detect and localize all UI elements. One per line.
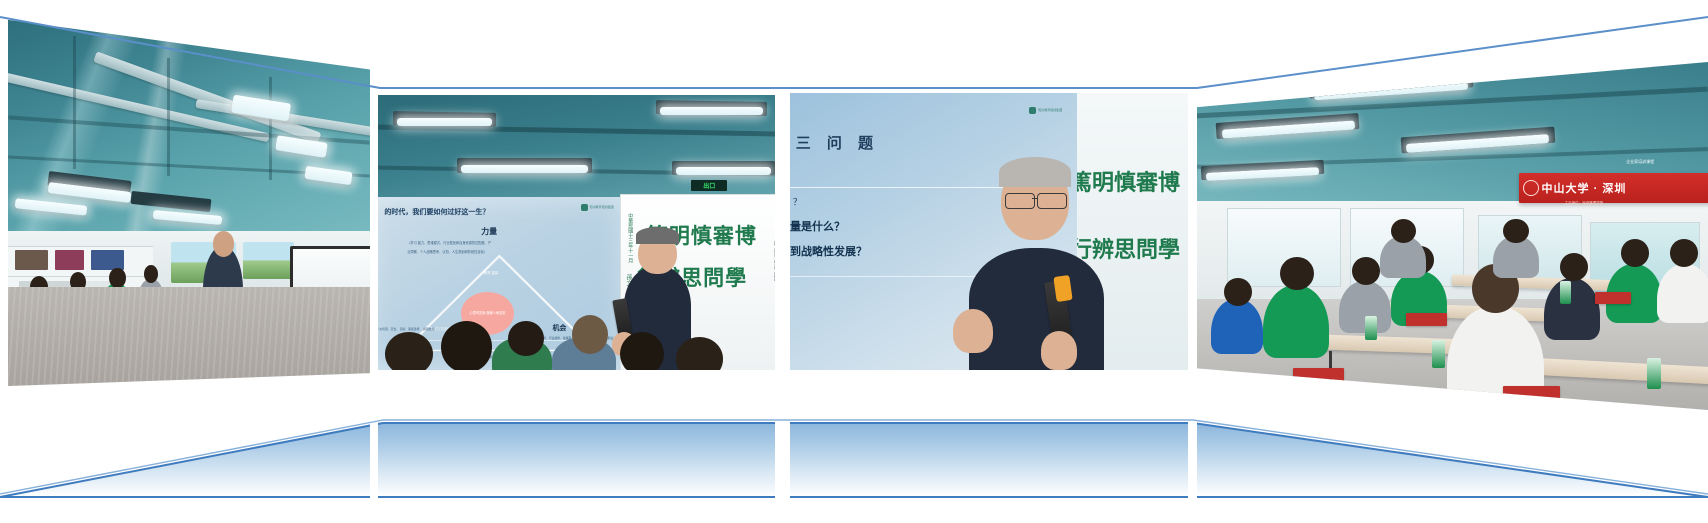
slide-logo-text: 知识教育培训集团 bbox=[1038, 108, 1062, 112]
attendee-head bbox=[1280, 257, 1313, 290]
ceiling-lamp bbox=[397, 118, 493, 126]
photo-lecture-with-slide[interactable]: 出口 知识教育培训集团 的时代，我们要如何过好这一生？ 力量 （学习 能力、思维… bbox=[377, 95, 775, 370]
nametag bbox=[1595, 292, 1631, 305]
calligraphy-line-1: 篤明慎審博 bbox=[1070, 165, 1180, 197]
nametag bbox=[1406, 313, 1447, 327]
photo-speaker-closeup[interactable]: 篤明慎審博 行辨思問學 中華民國十三年十一月 孫文 知识教育培训集团 三 问 题… bbox=[790, 93, 1188, 370]
ceiling-beam bbox=[269, 77, 272, 180]
emergency-exit-sign: 出口 bbox=[691, 180, 727, 191]
slide-title: 三 问 题 bbox=[796, 132, 879, 153]
slide-triangle-top-label: 教育 选择 bbox=[484, 271, 499, 275]
attendee-head bbox=[144, 265, 158, 283]
collage-stage: 出口 知识教育培训集团 的时代，我们要如何过好这一生？ 力量 （学习 能力、思维… bbox=[0, 0, 1708, 523]
red-wall-banner: 中山大学 · 深圳 bbox=[1519, 173, 1708, 203]
audience-head bbox=[572, 315, 608, 354]
floor bbox=[8, 287, 370, 386]
microphone-head bbox=[1053, 275, 1072, 302]
eyeglasses-icon bbox=[1005, 193, 1035, 209]
attendee-head bbox=[1224, 278, 1252, 306]
water-bottle bbox=[1560, 281, 1571, 304]
water-bottle bbox=[1647, 358, 1661, 389]
ceiling-lamp bbox=[461, 165, 588, 173]
attendee-head bbox=[1391, 219, 1417, 243]
slide-logo-text: 知识教育培训集团 bbox=[590, 205, 614, 209]
scene-lecture: 出口 知识教育培训集团 的时代，我们要如何过好这一生？ 力量 （学习 能力、思维… bbox=[377, 95, 775, 370]
book-row bbox=[15, 250, 48, 270]
university-seal-icon bbox=[1523, 180, 1539, 196]
exit-sign-label: 出口 bbox=[703, 181, 715, 190]
attendee-head bbox=[109, 268, 125, 288]
book-row bbox=[55, 250, 84, 270]
banner-sub-left: 主办单位：深圳管理学院 bbox=[1565, 201, 1604, 206]
attendee bbox=[1211, 299, 1262, 355]
ceiling-lamp bbox=[660, 107, 763, 115]
photo-audience-classroom-right[interactable]: 中山大学 · 深圳 企业家培训课程 主办单位：深圳管理学院 bbox=[1196, 62, 1708, 410]
audience-head bbox=[620, 332, 664, 371]
wall-poster bbox=[243, 242, 294, 279]
slide-line-3: 到战略性发展？ bbox=[790, 243, 867, 259]
logo-mark-icon bbox=[581, 204, 588, 211]
eyeglasses-icon bbox=[1037, 193, 1067, 209]
slide-line-2: 量是什么？ bbox=[790, 218, 845, 234]
water-bottle bbox=[1432, 340, 1445, 368]
slide-line-1: ？ bbox=[793, 195, 802, 208]
scene-audience: 中山大学 · 深圳 企业家培训课程 主办单位：深圳管理学院 bbox=[1196, 62, 1708, 410]
attendee-head bbox=[1670, 239, 1698, 267]
slide-top-label: 力量 bbox=[481, 226, 497, 237]
eyeglasses-bridge bbox=[1032, 198, 1038, 199]
attendee-head bbox=[1352, 257, 1380, 285]
slide-top-note-1: （学习 能力、思维模式、行业壁垒和自身资源的匹配度、产 bbox=[407, 240, 491, 245]
speaker-hand-right bbox=[1041, 331, 1077, 370]
scene-classroom-left bbox=[8, 18, 370, 386]
ceiling-lamp bbox=[676, 167, 772, 175]
banner-sub-right: 企业家培训课程 bbox=[1626, 159, 1654, 165]
gutter bbox=[370, 0, 378, 523]
gutter bbox=[775, 0, 790, 523]
slide-logo: 知识教育培训集团 bbox=[1029, 107, 1062, 114]
audience-head bbox=[385, 332, 433, 371]
speaker-body bbox=[969, 248, 1104, 370]
speaker-hand-left bbox=[953, 309, 993, 353]
speaker-hair bbox=[636, 227, 680, 244]
scene-speaker: 篤明慎審博 行辨思問學 中華民國十三年十一月 孫文 知识教育培训集团 三 问 题… bbox=[790, 93, 1188, 370]
attendee-head bbox=[1560, 253, 1588, 281]
slide-bottom-right-label: 机会 bbox=[552, 323, 566, 333]
gutter bbox=[1188, 0, 1197, 523]
slide-logo: 知识教育培训集团 bbox=[581, 204, 614, 211]
book-row bbox=[91, 250, 124, 270]
banner-text: 中山大学 · 深圳 bbox=[1542, 180, 1627, 196]
slide-title: 的时代，我们要如何过好这一生？ bbox=[384, 207, 489, 217]
audience-head bbox=[508, 321, 544, 357]
attendee-head bbox=[1503, 219, 1529, 243]
logo-mark-icon bbox=[1029, 107, 1036, 114]
calligraphy-side-right: 中華民國十三年十一月 bbox=[627, 213, 634, 263]
ceiling-beam bbox=[167, 58, 170, 176]
photo-classroom-wide-left[interactable] bbox=[8, 18, 370, 386]
speaker-hair bbox=[999, 157, 1071, 187]
ceiling-beam bbox=[73, 36, 76, 168]
water-bottle bbox=[1365, 316, 1377, 340]
audience-head bbox=[441, 321, 493, 371]
calligraphy-line-2: 行辨思問學 bbox=[1070, 232, 1180, 264]
